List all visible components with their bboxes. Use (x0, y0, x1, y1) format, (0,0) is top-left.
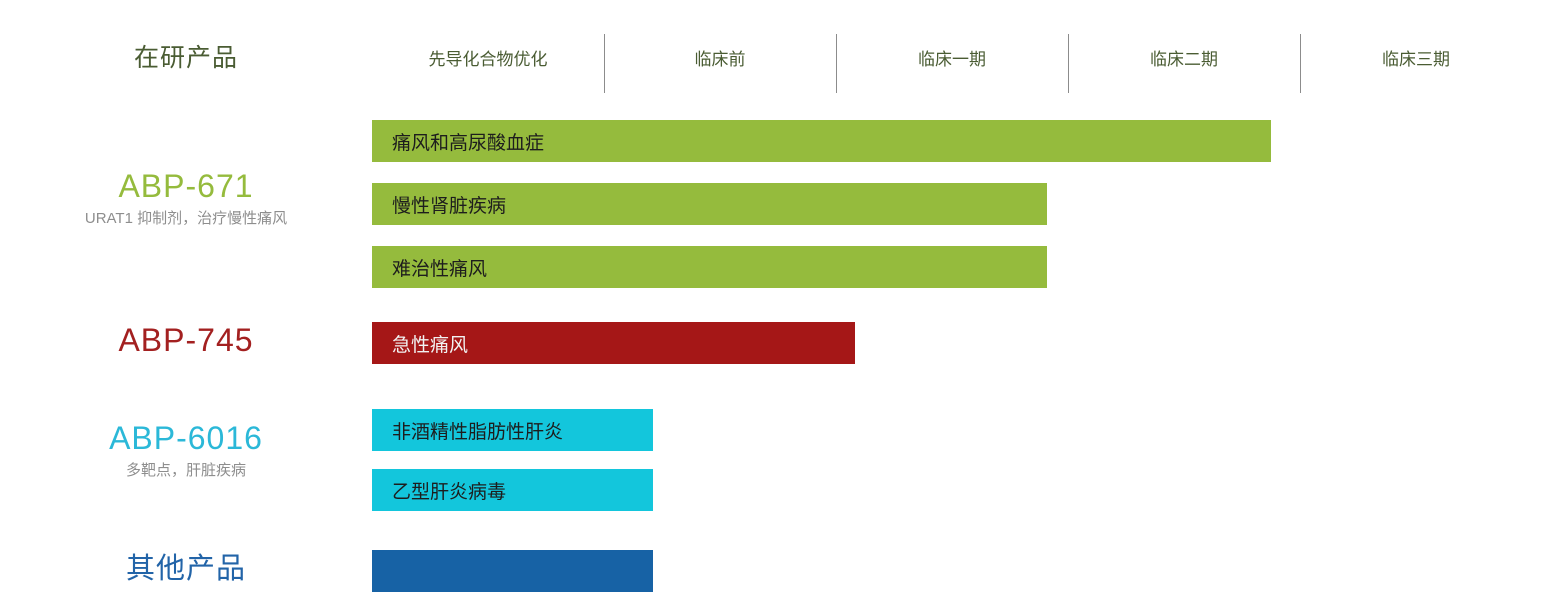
program-code: ABP-745 (0, 322, 372, 359)
indication-bar[interactable] (372, 550, 653, 592)
indication-label: 急性痛风 (372, 330, 468, 357)
indication-label: 痛风和高尿酸血症 (372, 128, 544, 155)
indication-bar[interactable]: 慢性肾脏疾病 (372, 183, 1047, 225)
stage-divider-3 (1068, 34, 1069, 93)
pipeline-chart: 在研产品 先导化合物优化临床前临床一期临床二期临床三期 ABP-671URAT1… (0, 0, 1550, 606)
page-title: 在研产品 (0, 38, 372, 74)
program-code: ABP-6016 (0, 420, 372, 457)
indication-bar[interactable]: 痛风和高尿酸血症 (372, 120, 1271, 162)
stage-divider-1 (604, 34, 605, 93)
stage-header-5: 临床三期 (1276, 45, 1550, 70)
indication-label: 难治性痛风 (372, 254, 487, 281)
program-code: ABP-671 (0, 168, 372, 205)
program-label-ABP-745: ABP-745 (0, 322, 372, 359)
indication-label: 慢性肾脏疾病 (372, 191, 506, 218)
indication-label: 乙型肝炎病毒 (372, 477, 506, 504)
indication-bar[interactable]: 非酒精性脂肪性肝炎 (372, 409, 653, 451)
program-label-其他产品: 其他产品 (0, 553, 372, 586)
stage-divider-4 (1300, 34, 1301, 93)
indication-label: 非酒精性脂肪性肝炎 (372, 417, 563, 444)
indication-bar[interactable]: 难治性痛风 (372, 246, 1047, 288)
indication-bar[interactable]: 急性痛风 (372, 322, 855, 364)
indication-bar[interactable]: 乙型肝炎病毒 (372, 469, 653, 511)
program-subtitle: 多靶点，肝脏疾病 (0, 459, 372, 480)
program-subtitle: URAT1 抑制剂，治疗慢性痛风 (0, 207, 372, 228)
program-code: 其他产品 (0, 553, 372, 586)
program-label-ABP-6016: ABP-6016多靶点，肝脏疾病 (0, 420, 372, 480)
stage-divider-2 (836, 34, 837, 93)
program-label-ABP-671: ABP-671URAT1 抑制剂，治疗慢性痛风 (0, 168, 372, 228)
